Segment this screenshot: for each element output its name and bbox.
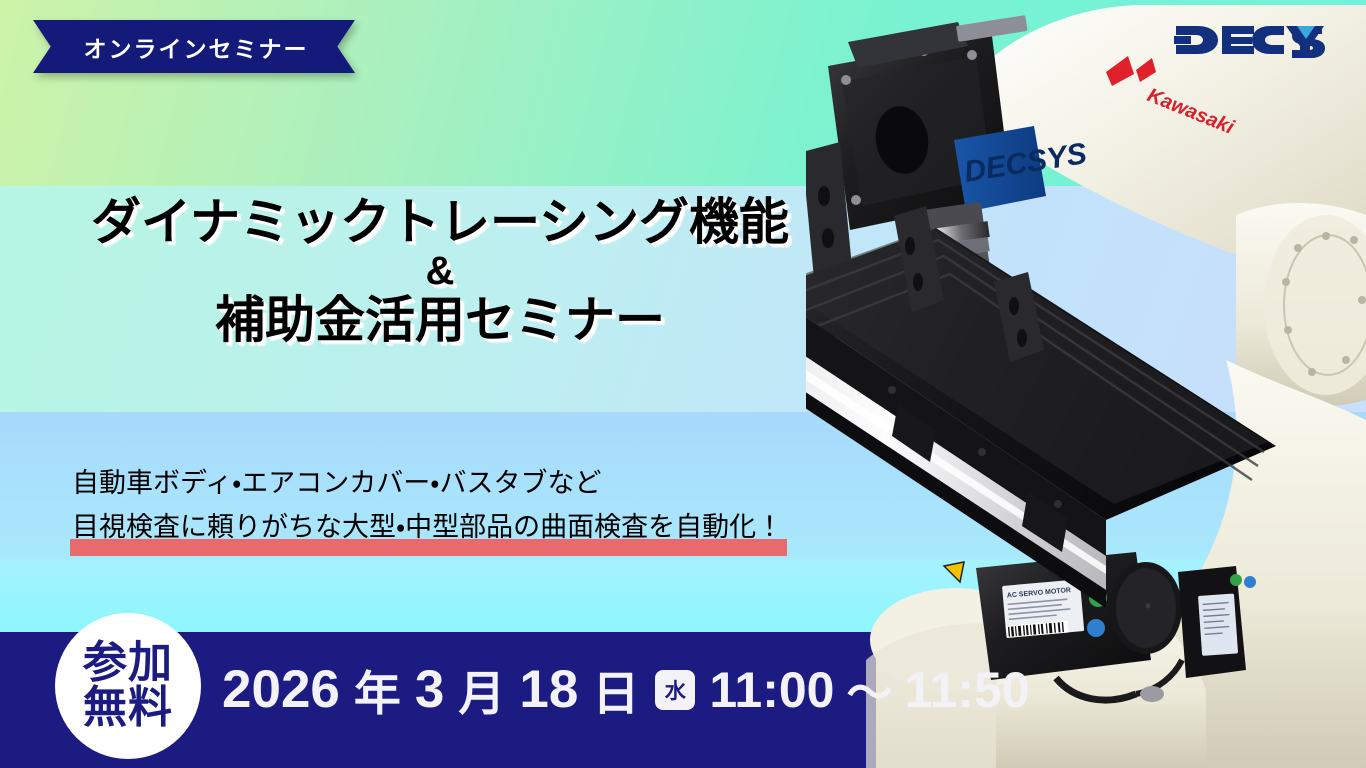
free-participation-badge: 参加 無料 <box>55 613 201 759</box>
ribbon-shape: オンラインセミナー <box>33 20 355 73</box>
event-month-unit: 月 <box>458 655 505 724</box>
event-datetime: 2026 年 3 月 18 日 水 11:00 〜 11:50 <box>222 655 1030 724</box>
headline-line-1: ダイナミックトレーシング機能 <box>0 196 880 248</box>
time-separator: 〜 <box>846 657 892 723</box>
event-time-end: 11:50 <box>904 661 1029 719</box>
seminar-banner: Kawasaki AC SERVO MOTOR <box>0 0 1366 768</box>
event-time-start: 11:00 <box>709 661 834 719</box>
event-day-unit: 日 <box>592 655 639 724</box>
event-month: 3 <box>415 659 444 720</box>
free-badge-line-1: 参加 <box>83 641 173 686</box>
subtitle-line-2-highlighted: 目視検査に頼りがちな大型・中型部品の曲面検査を自動化！ <box>72 506 783 550</box>
subtitle-block: 自動車ボディ・エアコンカバー・バスタブなど 目視検査に頼りがちな大型・中型部品の… <box>72 462 892 549</box>
headline-ampersand: & <box>0 248 880 294</box>
decsys-logo <box>1174 20 1332 60</box>
day-of-week-badge: 水 <box>655 670 695 710</box>
subtitle-line-2-wrapper: 目視検査に頼りがちな大型・中型部品の曲面検査を自動化！ <box>72 506 892 550</box>
free-badge-line-2: 無料 <box>83 686 173 731</box>
online-seminar-ribbon: オンラインセミナー <box>33 20 355 73</box>
subtitle-line-1: 自動車ボディ・エアコンカバー・バスタブなど <box>72 462 892 506</box>
robot-arm-photo: Kawasaki AC SERVO MOTOR <box>806 0 1366 768</box>
headline-line-2: 補助金活用セミナー <box>0 294 880 346</box>
event-year: 2026 <box>222 659 340 720</box>
event-year-unit: 年 <box>354 655 401 724</box>
page-title: ダイナミックトレーシング機能 & 補助金活用セミナー <box>0 196 880 346</box>
ribbon-label: オンラインセミナー <box>84 30 309 64</box>
event-day: 18 <box>519 659 578 720</box>
